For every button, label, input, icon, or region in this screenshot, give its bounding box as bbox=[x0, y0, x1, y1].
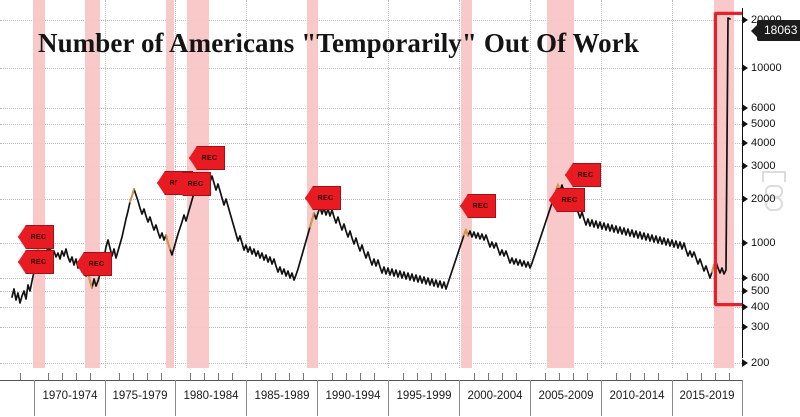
y-axis-tick: 10000 bbox=[742, 62, 782, 74]
x-axis-minor-tick bbox=[303, 373, 304, 380]
recession-marker-label: REC bbox=[573, 172, 594, 179]
y-axis-tick: 6000 bbox=[742, 102, 775, 114]
y-axis-tick-label: 300 bbox=[751, 321, 769, 333]
recession-marker-label: REC bbox=[197, 155, 218, 162]
recession-marker-label: REC bbox=[26, 234, 47, 241]
tick-arrow-icon bbox=[742, 64, 748, 72]
tick-arrow-icon bbox=[742, 16, 748, 24]
x-axis-major-tick bbox=[530, 380, 531, 416]
x-axis-minor-tick bbox=[445, 373, 446, 380]
x-axis-major-tick bbox=[246, 380, 247, 416]
y-axis-tick-label: 5000 bbox=[751, 118, 775, 130]
x-axis-minor-tick bbox=[516, 373, 517, 380]
x-axis-minor-tick bbox=[545, 373, 546, 380]
x-axis-minor-tick bbox=[587, 373, 588, 380]
tick-arrow-icon bbox=[742, 359, 748, 367]
tick-arrow-icon bbox=[742, 120, 748, 128]
tick-arrow-icon bbox=[742, 195, 748, 203]
x-axis-minor-tick bbox=[474, 373, 475, 380]
value-tooltip: 18063 bbox=[757, 20, 800, 41]
recession-marker-label: REC bbox=[313, 195, 334, 202]
x-axis-minor-tick bbox=[360, 373, 361, 380]
x-axis-minor-tick bbox=[76, 373, 77, 380]
x-axis-minor-tick bbox=[275, 373, 276, 380]
x-axis-major-tick bbox=[388, 380, 389, 416]
tick-arrow-icon bbox=[742, 274, 748, 282]
x-axis-minor-tick bbox=[204, 373, 205, 380]
x-axis-major-tick bbox=[317, 380, 318, 416]
y-axis-tick-label: 400 bbox=[751, 301, 769, 313]
recession-marker-label: REC bbox=[183, 181, 204, 188]
x-axis-label: 2000-2004 bbox=[468, 390, 523, 402]
y-axis-tick: 5000 bbox=[742, 118, 775, 130]
x-axis-major-tick bbox=[105, 380, 106, 416]
y-axis-tick-label: 600 bbox=[751, 272, 769, 284]
x-axis-minor-tick bbox=[658, 373, 659, 380]
x-axis-minor-tick bbox=[346, 373, 347, 380]
tick-arrow-icon bbox=[742, 303, 748, 311]
x-axis-major-tick bbox=[742, 380, 743, 416]
x-axis-label: 2015-2019 bbox=[680, 390, 735, 402]
y-axis-tick: 200 bbox=[742, 357, 769, 369]
x-axis-minor-tick bbox=[232, 373, 233, 380]
x-axis-minor-tick bbox=[90, 373, 91, 380]
y-axis-tick-label: 200 bbox=[751, 357, 769, 369]
tick-arrow-icon bbox=[742, 139, 748, 147]
y-axis-tick-label: 1000 bbox=[751, 237, 775, 249]
x-axis-minor-tick bbox=[687, 373, 688, 380]
x-axis-minor-tick bbox=[374, 373, 375, 380]
x-axis-minor-tick bbox=[701, 373, 702, 380]
x-axis-minor-tick bbox=[630, 373, 631, 380]
x-axis-label: 1985-1989 bbox=[255, 390, 310, 402]
y-axis-tick-label: 6000 bbox=[751, 102, 775, 114]
recession-marker-label: REC bbox=[84, 261, 105, 268]
tick-arrow-icon bbox=[742, 239, 748, 247]
x-axis-minor-tick bbox=[147, 373, 148, 380]
x-axis-minor-tick bbox=[573, 373, 574, 380]
x-axis-label: 1970-1974 bbox=[43, 390, 98, 402]
x-axis-label: 1980-1984 bbox=[184, 390, 239, 402]
tick-arrow-icon bbox=[742, 104, 748, 112]
x-axis-minor-tick bbox=[48, 373, 49, 380]
y-axis-tick-label: 500 bbox=[751, 285, 769, 297]
y-axis-tick: 600 bbox=[742, 272, 769, 284]
x-axis-minor-tick bbox=[559, 373, 560, 380]
x-axis-minor-tick bbox=[62, 373, 63, 380]
x-axis-minor-tick bbox=[161, 373, 162, 380]
chart-title: Number of Americans "Temporarily" Out Of… bbox=[38, 28, 639, 59]
y-axis-tick-label: 10000 bbox=[751, 62, 782, 74]
x-axis-label: 1990-1994 bbox=[326, 390, 381, 402]
x-axis-line bbox=[0, 380, 742, 381]
y-axis-tick: 4000 bbox=[742, 137, 775, 149]
y-axis-tick: 400 bbox=[742, 301, 769, 313]
x-axis-major-tick bbox=[601, 380, 602, 416]
x-axis-minor-tick bbox=[502, 373, 503, 380]
x-axis-minor-tick bbox=[644, 373, 645, 380]
x-axis: 1970-1974 1975-1979 1980-1984 1985-1989 … bbox=[0, 368, 742, 417]
highlight-rectangle-2020 bbox=[714, 12, 742, 306]
x-axis-minor-tick bbox=[119, 373, 120, 380]
x-axis-minor-tick bbox=[616, 373, 617, 380]
recession-marker-label: REC bbox=[26, 259, 47, 266]
x-axis-minor-tick bbox=[715, 373, 716, 380]
recession-marker-label: REC bbox=[557, 197, 578, 204]
logo-watermark bbox=[757, 168, 791, 214]
x-axis-minor-tick bbox=[218, 373, 219, 380]
x-axis-label: 1975-1979 bbox=[113, 390, 168, 402]
y-axis-tick-label: 4000 bbox=[751, 137, 775, 149]
x-axis-minor-tick bbox=[20, 373, 21, 380]
x-axis-minor-tick bbox=[190, 373, 191, 380]
x-axis-label: 1995-1999 bbox=[397, 390, 452, 402]
x-axis-major-tick bbox=[459, 380, 460, 416]
x-axis-label: 2010-2014 bbox=[610, 390, 665, 402]
y-axis-tick: 1000 bbox=[742, 237, 775, 249]
x-axis-major-tick bbox=[34, 380, 35, 416]
y-axis-tick: 300 bbox=[742, 321, 769, 333]
x-axis-minor-tick bbox=[133, 373, 134, 380]
x-axis-minor-tick bbox=[417, 373, 418, 380]
x-axis-major-tick bbox=[672, 380, 673, 416]
tick-arrow-icon bbox=[742, 323, 748, 331]
chart-container: REC REC REC REC REC REC REC REC REC REC … bbox=[0, 0, 800, 417]
x-axis-minor-tick bbox=[261, 373, 262, 380]
y-axis-tick: 500 bbox=[742, 285, 769, 297]
x-axis-minor-tick bbox=[729, 373, 730, 380]
recession-marker-label: REC bbox=[468, 203, 489, 210]
x-axis-minor-tick bbox=[403, 373, 404, 380]
tick-arrow-icon bbox=[742, 287, 748, 295]
x-axis-minor-tick bbox=[332, 373, 333, 380]
x-axis-minor-tick bbox=[289, 373, 290, 380]
x-axis-minor-tick bbox=[431, 373, 432, 380]
x-axis-minor-tick bbox=[488, 373, 489, 380]
x-axis-major-tick bbox=[175, 380, 176, 416]
tick-arrow-icon bbox=[742, 162, 748, 170]
x-axis-label: 2005-2009 bbox=[539, 390, 594, 402]
